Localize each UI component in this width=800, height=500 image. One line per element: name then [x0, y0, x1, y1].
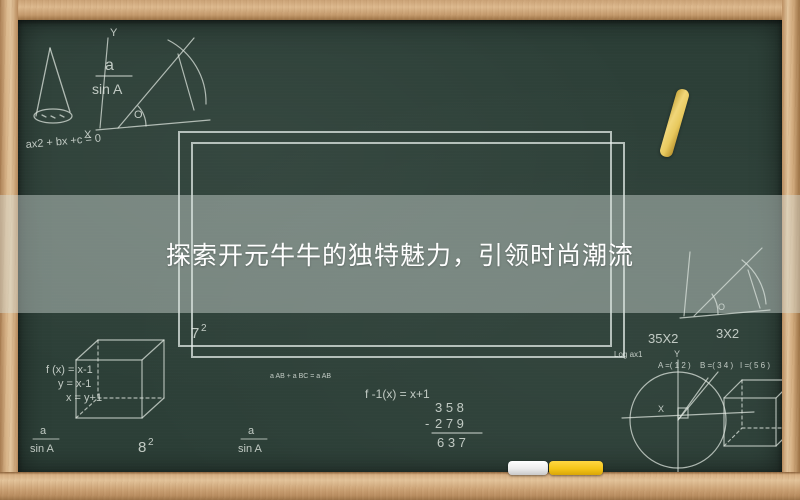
matrix-c: I =( 5 6 ) [740, 361, 770, 370]
frame-bottom-ledge [0, 472, 800, 500]
svg-text:f (x) = x-1: f (x) = x-1 [46, 364, 93, 376]
svg-text:a: a [40, 425, 47, 437]
svg-text:Y: Y [674, 349, 680, 359]
svg-text:sin A: sin A [92, 81, 123, 97]
matrix-b: B =( 3 4 ) [700, 361, 733, 370]
sine-rule-top-left: a sin A [92, 57, 132, 97]
svg-text:O: O [134, 109, 143, 121]
svg-text:6 3 7: 6 3 7 [437, 435, 466, 450]
svg-text:y = x-1: y = x-1 [58, 378, 91, 390]
poster-canvas: a sin A ax2 + bx +c = 0 Y X O [0, 0, 800, 500]
svg-text:-: - [425, 416, 429, 431]
svg-text:2: 2 [148, 437, 154, 448]
svg-text:3 5 8: 3 5 8 [435, 400, 464, 415]
white-chalk-piece [508, 461, 548, 475]
vector-sum-expression: a AB + a BC = a AB [270, 373, 331, 380]
svg-text:X: X [84, 129, 92, 141]
svg-text:2 7 9: 2 7 9 [435, 416, 464, 431]
frame-top-edge [0, 0, 800, 20]
subtraction-problem: 3 5 8 - 2 7 9 6 3 7 [425, 400, 482, 450]
multiplication-a: 35X2 [648, 331, 678, 346]
svg-text:X: X [658, 404, 664, 414]
headline-text: 探索开元牛牛的独特魅力，引领时尚潮流 [0, 195, 800, 313]
svg-text:8: 8 [138, 439, 146, 456]
svg-text:sin A: sin A [238, 443, 263, 455]
inverse-function: f -1(x) = x+1 [365, 387, 430, 401]
sine-rule-lower-left: a sin A [30, 425, 59, 455]
yellow-chalk-piece [549, 461, 603, 475]
function-equations: f (x) = x-1 y = x-1 x = y+1 [46, 364, 102, 404]
power-eight: 8 2 [138, 437, 154, 456]
svg-text:x = y+1: x = y+1 [66, 392, 102, 404]
cone-drawing [34, 48, 72, 123]
matrix-a: A =( 1 2 ) [658, 361, 691, 370]
svg-text:Y: Y [110, 27, 118, 39]
sine-rule-lower-mid: a sin A [238, 425, 267, 455]
svg-text:sin A: sin A [30, 443, 55, 455]
svg-text:a: a [248, 425, 255, 437]
multiplication-b: 3X2 [716, 326, 739, 341]
